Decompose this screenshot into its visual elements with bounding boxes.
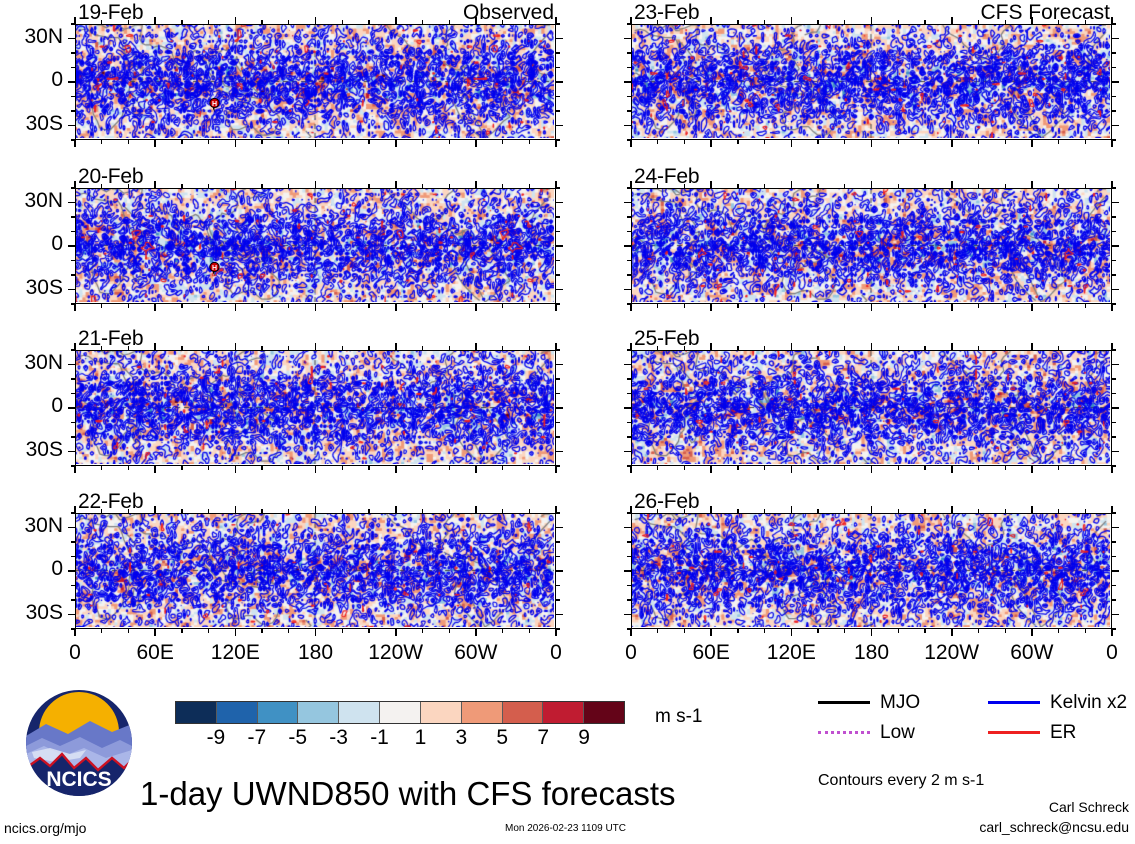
axis-tick bbox=[74, 140, 76, 147]
axis-tick bbox=[1058, 509, 1059, 513]
axis-tick bbox=[1058, 466, 1059, 470]
axis-tick bbox=[1112, 139, 1116, 140]
axis-tick bbox=[556, 614, 563, 616]
axis-tick bbox=[764, 20, 765, 24]
axis-tick bbox=[951, 343, 953, 350]
axis-tick bbox=[71, 110, 75, 111]
axis-tick bbox=[1005, 509, 1006, 513]
axis-tick bbox=[1112, 274, 1116, 275]
axis-tick bbox=[288, 20, 289, 24]
axis-tick bbox=[844, 466, 845, 470]
axis-tick bbox=[1112, 202, 1119, 204]
axis-tick bbox=[657, 629, 658, 633]
axis-tick bbox=[1112, 436, 1116, 437]
axis-tick bbox=[502, 20, 503, 24]
axis-tick bbox=[924, 20, 925, 24]
axis-tick bbox=[208, 304, 209, 308]
axis-tick bbox=[154, 343, 156, 350]
axis-tick bbox=[475, 140, 477, 147]
axis-tick bbox=[71, 599, 75, 600]
axis-tick bbox=[101, 20, 102, 24]
x-tick-label: 180 bbox=[271, 641, 361, 665]
axis-tick bbox=[1112, 541, 1116, 542]
axis-tick bbox=[68, 451, 75, 453]
axis-tick bbox=[871, 343, 873, 350]
axis-tick bbox=[395, 466, 397, 473]
x-tick-label: 180 bbox=[827, 641, 917, 665]
axis-tick bbox=[1112, 125, 1119, 127]
legend-label: MJO bbox=[880, 692, 920, 714]
axis-tick bbox=[128, 629, 129, 633]
axis-tick bbox=[101, 466, 102, 470]
axis-tick bbox=[1111, 140, 1113, 147]
axis-tick bbox=[261, 509, 262, 513]
axis-tick bbox=[235, 466, 237, 473]
axis-tick bbox=[68, 527, 75, 529]
axis-tick bbox=[68, 570, 75, 572]
axis-tick bbox=[657, 20, 658, 24]
axis-tick bbox=[422, 184, 423, 188]
axis-tick bbox=[791, 343, 793, 350]
shaded-anomaly-field bbox=[632, 25, 1110, 138]
axis-tick bbox=[395, 304, 397, 311]
axis-tick bbox=[951, 629, 953, 636]
axis-tick bbox=[449, 346, 450, 350]
axis-tick bbox=[74, 304, 76, 311]
axis-tick bbox=[368, 509, 369, 513]
axis-tick bbox=[556, 364, 563, 366]
axis-tick bbox=[261, 184, 262, 188]
axis-tick bbox=[764, 629, 765, 633]
axis-tick bbox=[737, 629, 738, 633]
axis-tick bbox=[1031, 17, 1033, 24]
colorbar-segment-4 bbox=[339, 702, 380, 723]
axis-tick bbox=[556, 527, 563, 529]
axis-tick bbox=[1112, 422, 1116, 423]
axis-tick bbox=[556, 289, 563, 291]
legend-label: ER bbox=[1050, 722, 1076, 744]
author-name: Carl Schreck bbox=[1049, 799, 1129, 815]
y-tick-label-30s: 30S bbox=[26, 601, 63, 625]
axis-tick bbox=[235, 343, 237, 350]
axis-tick bbox=[657, 184, 658, 188]
axis-tick bbox=[315, 140, 317, 147]
axis-tick bbox=[710, 181, 712, 188]
axis-tick bbox=[684, 466, 685, 470]
axis-tick bbox=[764, 466, 765, 470]
tropical-storm-marker: H bbox=[208, 98, 221, 113]
shaded-anomaly-field bbox=[76, 25, 554, 138]
axis-tick bbox=[71, 96, 75, 97]
svg-text:H: H bbox=[212, 101, 217, 108]
legend-line-swatch bbox=[988, 701, 1040, 704]
axis-tick bbox=[556, 378, 560, 379]
axis-tick bbox=[71, 260, 75, 261]
axis-tick bbox=[657, 304, 658, 308]
axis-tick bbox=[1111, 629, 1113, 636]
axis-tick bbox=[556, 465, 560, 466]
axis-tick bbox=[502, 346, 503, 350]
axis-tick bbox=[1005, 466, 1006, 470]
axis-tick bbox=[208, 629, 209, 633]
axis-tick bbox=[1112, 465, 1116, 466]
axis-tick bbox=[924, 346, 925, 350]
map-plot-area bbox=[631, 188, 1112, 304]
axis-tick bbox=[627, 187, 631, 188]
axis-tick bbox=[128, 20, 129, 24]
axis-tick bbox=[128, 509, 129, 513]
axis-tick bbox=[556, 187, 560, 188]
axis-tick bbox=[422, 509, 423, 513]
axis-tick bbox=[71, 303, 75, 304]
axis-tick bbox=[1111, 466, 1113, 473]
axis-tick bbox=[449, 20, 450, 24]
map-plot-area: H bbox=[75, 24, 556, 140]
axis-tick bbox=[342, 629, 343, 633]
axis-tick bbox=[315, 343, 317, 350]
axis-tick bbox=[1031, 343, 1033, 350]
colorbar-segment-1 bbox=[217, 702, 258, 723]
panel-date-label: 26-Feb bbox=[634, 490, 699, 514]
axis-tick bbox=[1112, 570, 1119, 572]
axis-tick bbox=[556, 407, 563, 409]
axis-tick bbox=[1112, 245, 1119, 247]
axis-tick bbox=[261, 140, 262, 144]
axis-tick bbox=[556, 585, 560, 586]
axis-tick bbox=[71, 187, 75, 188]
axis-tick bbox=[529, 140, 530, 144]
colorbar-segment-9 bbox=[543, 702, 584, 723]
axis-tick bbox=[288, 629, 289, 633]
legend-label: Low bbox=[880, 722, 915, 744]
axis-tick bbox=[951, 466, 953, 473]
axis-tick bbox=[1085, 466, 1086, 470]
axis-tick bbox=[235, 140, 237, 147]
axis-tick bbox=[235, 506, 237, 513]
axis-tick bbox=[101, 184, 102, 188]
axis-tick bbox=[68, 289, 75, 291]
axis-tick bbox=[817, 20, 818, 24]
author-email: carl_schreck@ncsu.edu bbox=[979, 819, 1129, 835]
axis-tick bbox=[627, 541, 631, 542]
axis-tick bbox=[502, 466, 503, 470]
axis-tick bbox=[449, 140, 450, 144]
axis-tick bbox=[342, 346, 343, 350]
axis-tick bbox=[556, 393, 560, 394]
axis-tick bbox=[1085, 346, 1086, 350]
axis-tick bbox=[1112, 231, 1116, 232]
axis-tick bbox=[737, 20, 738, 24]
axis-tick bbox=[556, 274, 560, 275]
colorbar-segment-2 bbox=[258, 702, 299, 723]
axis-tick bbox=[1112, 260, 1116, 261]
axis-tick bbox=[1112, 378, 1116, 379]
axis-tick bbox=[871, 140, 873, 147]
axis-tick bbox=[791, 17, 793, 24]
axis-tick bbox=[556, 451, 563, 453]
axis-tick bbox=[978, 466, 979, 470]
axis-tick bbox=[630, 304, 632, 311]
axis-tick bbox=[978, 346, 979, 350]
axis-tick bbox=[978, 20, 979, 24]
axis-tick bbox=[68, 364, 75, 366]
axis-tick bbox=[1112, 527, 1119, 529]
axis-tick bbox=[71, 436, 75, 437]
axis-tick bbox=[71, 349, 75, 350]
colorbar-segment-7 bbox=[462, 702, 503, 723]
axis-tick bbox=[556, 570, 563, 572]
axis-tick bbox=[181, 140, 182, 144]
axis-tick bbox=[71, 378, 75, 379]
axis-tick bbox=[1112, 349, 1116, 350]
colorbar-segment-0 bbox=[176, 702, 217, 723]
axis-tick bbox=[368, 629, 369, 633]
map-plot-area bbox=[631, 350, 1112, 466]
axis-tick bbox=[624, 570, 631, 572]
x-tick-label: 0 bbox=[586, 641, 676, 665]
axis-tick bbox=[208, 346, 209, 350]
axis-tick bbox=[924, 140, 925, 144]
map-plot-area bbox=[631, 513, 1112, 629]
y-tick-label-30s: 30S bbox=[26, 438, 63, 462]
axis-tick bbox=[710, 629, 712, 636]
axis-tick bbox=[71, 585, 75, 586]
axis-tick bbox=[1112, 599, 1116, 600]
axis-tick bbox=[1112, 407, 1119, 409]
axis-tick bbox=[1005, 629, 1006, 633]
shaded-anomaly-field bbox=[632, 189, 1110, 302]
axis-tick bbox=[368, 20, 369, 24]
axis-tick bbox=[764, 184, 765, 188]
axis-tick bbox=[235, 629, 237, 636]
axis-tick bbox=[395, 181, 397, 188]
axis-tick bbox=[154, 629, 156, 636]
axis-tick bbox=[529, 184, 530, 188]
axis-tick bbox=[624, 81, 631, 83]
x-tick-label: 0 bbox=[30, 641, 120, 665]
axis-tick bbox=[1112, 52, 1116, 53]
axis-tick bbox=[684, 20, 685, 24]
axis-tick bbox=[342, 509, 343, 513]
axis-tick bbox=[475, 181, 477, 188]
axis-tick bbox=[817, 466, 818, 470]
axis-tick bbox=[555, 304, 557, 311]
legend-line-swatch bbox=[988, 731, 1040, 734]
axis-tick bbox=[556, 260, 560, 261]
axis-tick bbox=[764, 509, 765, 513]
y-tick-label-30n: 30N bbox=[24, 25, 63, 49]
axis-tick bbox=[630, 140, 632, 147]
axis-tick bbox=[684, 140, 685, 144]
figure-root: 19-FebObservedH20-FebH21-Feb22-Feb23-Feb… bbox=[0, 0, 1135, 844]
axis-tick bbox=[556, 541, 560, 542]
legend-line-swatch bbox=[818, 731, 870, 734]
ncics-logo: NCICS bbox=[20, 688, 138, 806]
axis-tick bbox=[315, 506, 317, 513]
axis-tick bbox=[817, 509, 818, 513]
axis-tick bbox=[556, 67, 560, 68]
axis-tick bbox=[68, 38, 75, 40]
axis-tick bbox=[924, 184, 925, 188]
axis-tick bbox=[556, 23, 560, 24]
axis-tick bbox=[1112, 614, 1119, 616]
axis-tick bbox=[627, 23, 631, 24]
axis-tick bbox=[898, 346, 899, 350]
axis-tick bbox=[208, 140, 209, 144]
axis-tick bbox=[791, 629, 793, 636]
axis-tick bbox=[556, 38, 563, 40]
axis-tick bbox=[1112, 81, 1119, 83]
map-plot-area: H bbox=[75, 188, 556, 304]
y-tick-label-0: 0 bbox=[51, 394, 63, 418]
axis-tick bbox=[1112, 67, 1116, 68]
axis-tick bbox=[1112, 393, 1116, 394]
axis-tick bbox=[395, 629, 397, 636]
shaded-anomaly-field bbox=[632, 514, 1110, 627]
axis-tick bbox=[342, 20, 343, 24]
axis-tick bbox=[627, 110, 631, 111]
axis-tick bbox=[624, 289, 631, 291]
axis-tick bbox=[737, 304, 738, 308]
axis-tick bbox=[71, 422, 75, 423]
axis-tick bbox=[208, 20, 209, 24]
axis-tick bbox=[342, 466, 343, 470]
svg-text:H: H bbox=[212, 265, 217, 272]
axis-tick bbox=[627, 556, 631, 557]
legend-line-swatch bbox=[818, 701, 870, 704]
axis-tick bbox=[1058, 304, 1059, 308]
axis-tick bbox=[556, 422, 560, 423]
x-tick-label: 60E bbox=[666, 641, 756, 665]
axis-tick bbox=[261, 304, 262, 308]
axis-tick bbox=[1005, 346, 1006, 350]
y-tick-label-0: 0 bbox=[51, 557, 63, 581]
axis-tick bbox=[1058, 346, 1059, 350]
axis-tick bbox=[342, 140, 343, 144]
axis-tick bbox=[871, 506, 873, 513]
axis-tick bbox=[627, 378, 631, 379]
axis-tick bbox=[235, 304, 237, 311]
axis-tick bbox=[1112, 628, 1116, 629]
axis-tick bbox=[1112, 451, 1119, 453]
axis-tick bbox=[1112, 96, 1116, 97]
axis-tick bbox=[951, 506, 953, 513]
axis-tick bbox=[624, 527, 631, 529]
axis-tick bbox=[475, 343, 477, 350]
axis-tick bbox=[978, 304, 979, 308]
axis-tick bbox=[1005, 304, 1006, 308]
axis-tick bbox=[710, 466, 712, 473]
axis-tick bbox=[502, 304, 503, 308]
colorbar-segment-10 bbox=[584, 702, 624, 723]
x-tick-label: 120E bbox=[746, 641, 836, 665]
axis-tick bbox=[556, 110, 560, 111]
colorbar-units-label: m s-1 bbox=[655, 706, 703, 728]
axis-tick bbox=[978, 184, 979, 188]
axis-tick bbox=[101, 304, 102, 308]
site-url: ncics.org/mjo bbox=[4, 820, 86, 836]
axis-tick bbox=[844, 509, 845, 513]
axis-tick bbox=[1031, 506, 1033, 513]
axis-tick bbox=[154, 17, 156, 24]
axis-tick bbox=[737, 346, 738, 350]
axis-tick bbox=[502, 629, 503, 633]
axis-tick bbox=[235, 17, 237, 24]
axis-tick bbox=[898, 140, 899, 144]
axis-tick bbox=[978, 140, 979, 144]
axis-tick bbox=[1058, 184, 1059, 188]
x-tick-label: 60E bbox=[110, 641, 200, 665]
axis-tick bbox=[502, 184, 503, 188]
axis-tick bbox=[624, 614, 631, 616]
axis-tick bbox=[1112, 23, 1116, 24]
axis-tick bbox=[737, 466, 738, 470]
axis-tick bbox=[627, 599, 631, 600]
axis-tick bbox=[556, 96, 560, 97]
axis-tick bbox=[791, 181, 793, 188]
axis-tick bbox=[791, 140, 793, 147]
axis-tick bbox=[556, 599, 560, 600]
axis-tick bbox=[261, 346, 262, 350]
axis-tick bbox=[128, 466, 129, 470]
x-tick-label: 120W bbox=[907, 641, 997, 665]
axis-tick bbox=[449, 304, 450, 308]
axis-tick bbox=[1112, 289, 1119, 291]
panel-date-label: 22-Feb bbox=[78, 490, 143, 514]
axis-tick bbox=[627, 216, 631, 217]
axis-tick bbox=[181, 509, 182, 513]
axis-tick bbox=[684, 629, 685, 633]
map-plot-area bbox=[75, 513, 556, 629]
axis-tick bbox=[657, 140, 658, 144]
colorbar-tick-label: 9 bbox=[559, 726, 609, 750]
axis-tick bbox=[1085, 629, 1086, 633]
axis-tick bbox=[924, 304, 925, 308]
axis-tick bbox=[1112, 512, 1116, 513]
axis-tick bbox=[737, 184, 738, 188]
axis-tick bbox=[71, 556, 75, 557]
axis-tick bbox=[128, 140, 129, 144]
axis-tick bbox=[844, 20, 845, 24]
axis-tick bbox=[624, 451, 631, 453]
axis-tick bbox=[71, 231, 75, 232]
tropical-storm-marker: H bbox=[208, 262, 221, 277]
axis-tick bbox=[502, 509, 503, 513]
axis-tick bbox=[342, 304, 343, 308]
axis-tick bbox=[288, 509, 289, 513]
axis-tick bbox=[737, 509, 738, 513]
axis-tick bbox=[624, 125, 631, 127]
axis-tick bbox=[529, 509, 530, 513]
axis-tick bbox=[315, 17, 317, 24]
axis-tick bbox=[684, 304, 685, 308]
axis-tick bbox=[288, 140, 289, 144]
axis-tick bbox=[288, 304, 289, 308]
axis-tick bbox=[449, 184, 450, 188]
axis-tick bbox=[684, 346, 685, 350]
axis-tick bbox=[261, 466, 262, 470]
axis-tick bbox=[1031, 181, 1033, 188]
axis-tick bbox=[817, 346, 818, 350]
axis-tick bbox=[627, 512, 631, 513]
colorbar-segment-6 bbox=[421, 702, 462, 723]
axis-tick bbox=[449, 629, 450, 633]
axis-tick bbox=[422, 304, 423, 308]
axis-tick bbox=[422, 466, 423, 470]
axis-tick bbox=[556, 303, 560, 304]
axis-tick bbox=[368, 140, 369, 144]
axis-tick bbox=[627, 422, 631, 423]
